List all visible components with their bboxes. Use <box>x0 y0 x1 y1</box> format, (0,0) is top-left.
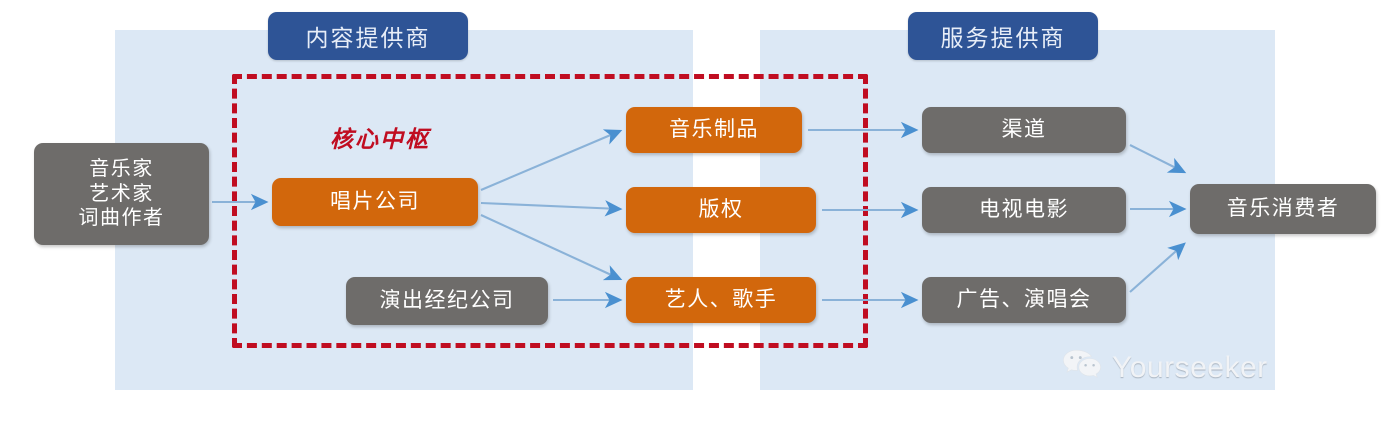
node-agency[interactable]: 演出经纪公司 <box>346 277 548 325</box>
header-content-provider: 内容提供商 <box>268 12 468 60</box>
node-line: 艺术家 <box>89 182 154 206</box>
node-line: 音乐家 <box>89 157 154 181</box>
node-line: 音乐消费者 <box>1227 196 1340 222</box>
node-label-company[interactable]: 唱片公司 <box>272 178 478 226</box>
watermark: Yourseeker <box>1062 348 1268 388</box>
wechat-icon <box>1062 348 1102 388</box>
node-creators[interactable]: 音乐家 艺术家 词曲作者 <box>34 143 209 245</box>
node-tv-film[interactable]: 电视电影 <box>922 187 1126 233</box>
node-line: 电视电影 <box>979 197 1069 223</box>
node-channel[interactable]: 渠道 <box>922 107 1126 153</box>
watermark-text: Yourseeker <box>1112 351 1268 385</box>
diagram-canvas: 内容提供商 服务提供商 核心中枢 音乐家 <box>0 0 1397 427</box>
node-ads-concerts[interactable]: 广告、演唱会 <box>922 277 1126 323</box>
node-copyright[interactable]: 版权 <box>626 187 816 233</box>
node-products[interactable]: 音乐制品 <box>626 107 802 153</box>
node-consumer[interactable]: 音乐消费者 <box>1190 184 1376 234</box>
node-line: 唱片公司 <box>330 189 420 215</box>
node-line: 词曲作者 <box>79 206 165 230</box>
core-hub-label: 核心中枢 <box>330 120 430 154</box>
node-line: 音乐制品 <box>669 117 759 143</box>
node-artists[interactable]: 艺人、歌手 <box>626 277 816 323</box>
header-service-provider: 服务提供商 <box>908 12 1098 60</box>
node-line: 演出经纪公司 <box>380 288 515 314</box>
node-line: 广告、演唱会 <box>957 287 1092 313</box>
node-line: 版权 <box>699 197 744 223</box>
node-line: 渠道 <box>1002 117 1047 143</box>
node-line: 艺人、歌手 <box>665 287 778 313</box>
